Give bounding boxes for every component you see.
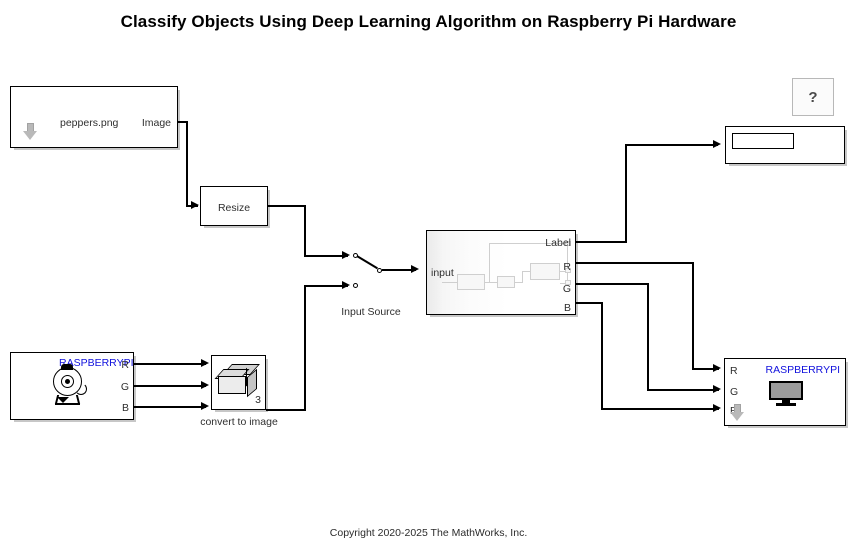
copyright-text: Copyright 2020-2025 The MathWorks, Inc. xyxy=(0,527,857,539)
help-button[interactable]: ? xyxy=(792,78,834,116)
display-block[interactable] xyxy=(725,126,845,164)
simulink-model-canvas[interactable]: Classify Objects Using Deep Learning Alg… xyxy=(0,0,857,553)
arrowhead-video-g xyxy=(713,385,721,393)
download-arrow-icon xyxy=(23,123,38,140)
display-value-field xyxy=(732,133,794,149)
wire-convert-vert xyxy=(304,285,306,410)
dl-output-port-label-b: B xyxy=(564,303,571,314)
switch-input2-node xyxy=(353,283,358,288)
dl-output-port-label-r: R xyxy=(563,262,571,273)
download-arrow-icon xyxy=(730,404,745,421)
dl-input-port-label: input xyxy=(431,268,454,279)
resize-block[interactable]: Resize xyxy=(200,186,268,226)
raspberrypi-sdl-video-display-block[interactable]: R G B RASPBERRYPI xyxy=(724,358,846,426)
dl-output-port-label-label: Label xyxy=(545,238,571,249)
wire-dl-b-vert xyxy=(601,302,603,409)
question-mark-icon: ? xyxy=(808,89,817,106)
model-title: Classify Objects Using Deep Learning Alg… xyxy=(0,12,857,32)
wire-cam-b xyxy=(134,406,206,408)
dl-output-port-label-g: G xyxy=(563,284,571,295)
switch-lever[interactable] xyxy=(357,255,378,269)
arrowhead-dl-in xyxy=(411,265,419,273)
convert-to-image-caption: convert to image xyxy=(180,417,298,428)
resize-label: Resize xyxy=(201,203,267,214)
wire-dl-g-vert xyxy=(647,283,649,391)
video-in-port-label-r: R xyxy=(730,366,738,377)
video-hardware-tag: RASPBERRYPI xyxy=(766,365,841,376)
wire-dl-r-vert xyxy=(692,262,694,370)
arrowhead-display-in xyxy=(713,140,721,148)
wire-dl-b-end xyxy=(601,408,719,410)
switch-caption: Input Source xyxy=(300,307,442,318)
wire-resize-out xyxy=(268,205,306,207)
wire-dl-r xyxy=(576,262,694,264)
arrowhead-switch-in1 xyxy=(342,251,350,259)
wire-cam-r xyxy=(134,363,206,365)
wire-dl-g-end xyxy=(647,389,719,391)
arrowhead-convert-r xyxy=(201,359,209,367)
arrowhead-convert-b xyxy=(201,402,209,410)
cube-icon xyxy=(217,364,261,396)
wire-resize-out-vert xyxy=(304,205,306,257)
matrix-concatenate-block[interactable]: 3 xyxy=(211,355,266,410)
concatenate-dimension-label: 3 xyxy=(255,395,261,406)
arrowhead-resize-in xyxy=(191,201,199,209)
arrowhead-video-r xyxy=(713,364,721,372)
wire-dl-b xyxy=(576,302,603,304)
arrowhead-convert-g xyxy=(201,381,209,389)
monitor-icon xyxy=(769,381,803,407)
image-out-port-label: Image xyxy=(142,118,171,129)
webcam-icon xyxy=(53,361,105,411)
wire-convert-out xyxy=(266,409,306,411)
arrowhead-switch-in2 xyxy=(342,281,350,289)
wire-label-vert xyxy=(625,144,627,242)
image-file-name: peppers.png xyxy=(60,118,118,129)
raspberrypi-camera-block[interactable]: RASPBERRYPI R G B xyxy=(10,352,134,420)
wire-dl-g xyxy=(576,283,649,285)
wire-cam-g xyxy=(134,385,206,387)
camera-out-port-label-g: G xyxy=(121,382,129,393)
wire-label-out xyxy=(576,241,627,243)
arrowhead-video-b xyxy=(713,404,721,412)
video-in-port-label-g: G xyxy=(730,387,738,398)
camera-out-port-label-b: B xyxy=(122,403,129,414)
image-from-file-block[interactable]: peppers.png Image xyxy=(10,86,178,148)
camera-out-port-label-r: R xyxy=(121,360,129,371)
deep-learning-predict-block[interactable]: input Label R G B xyxy=(426,230,576,315)
wire-label-to-display xyxy=(625,144,718,146)
wire-image-to-resize-vert xyxy=(186,121,188,206)
